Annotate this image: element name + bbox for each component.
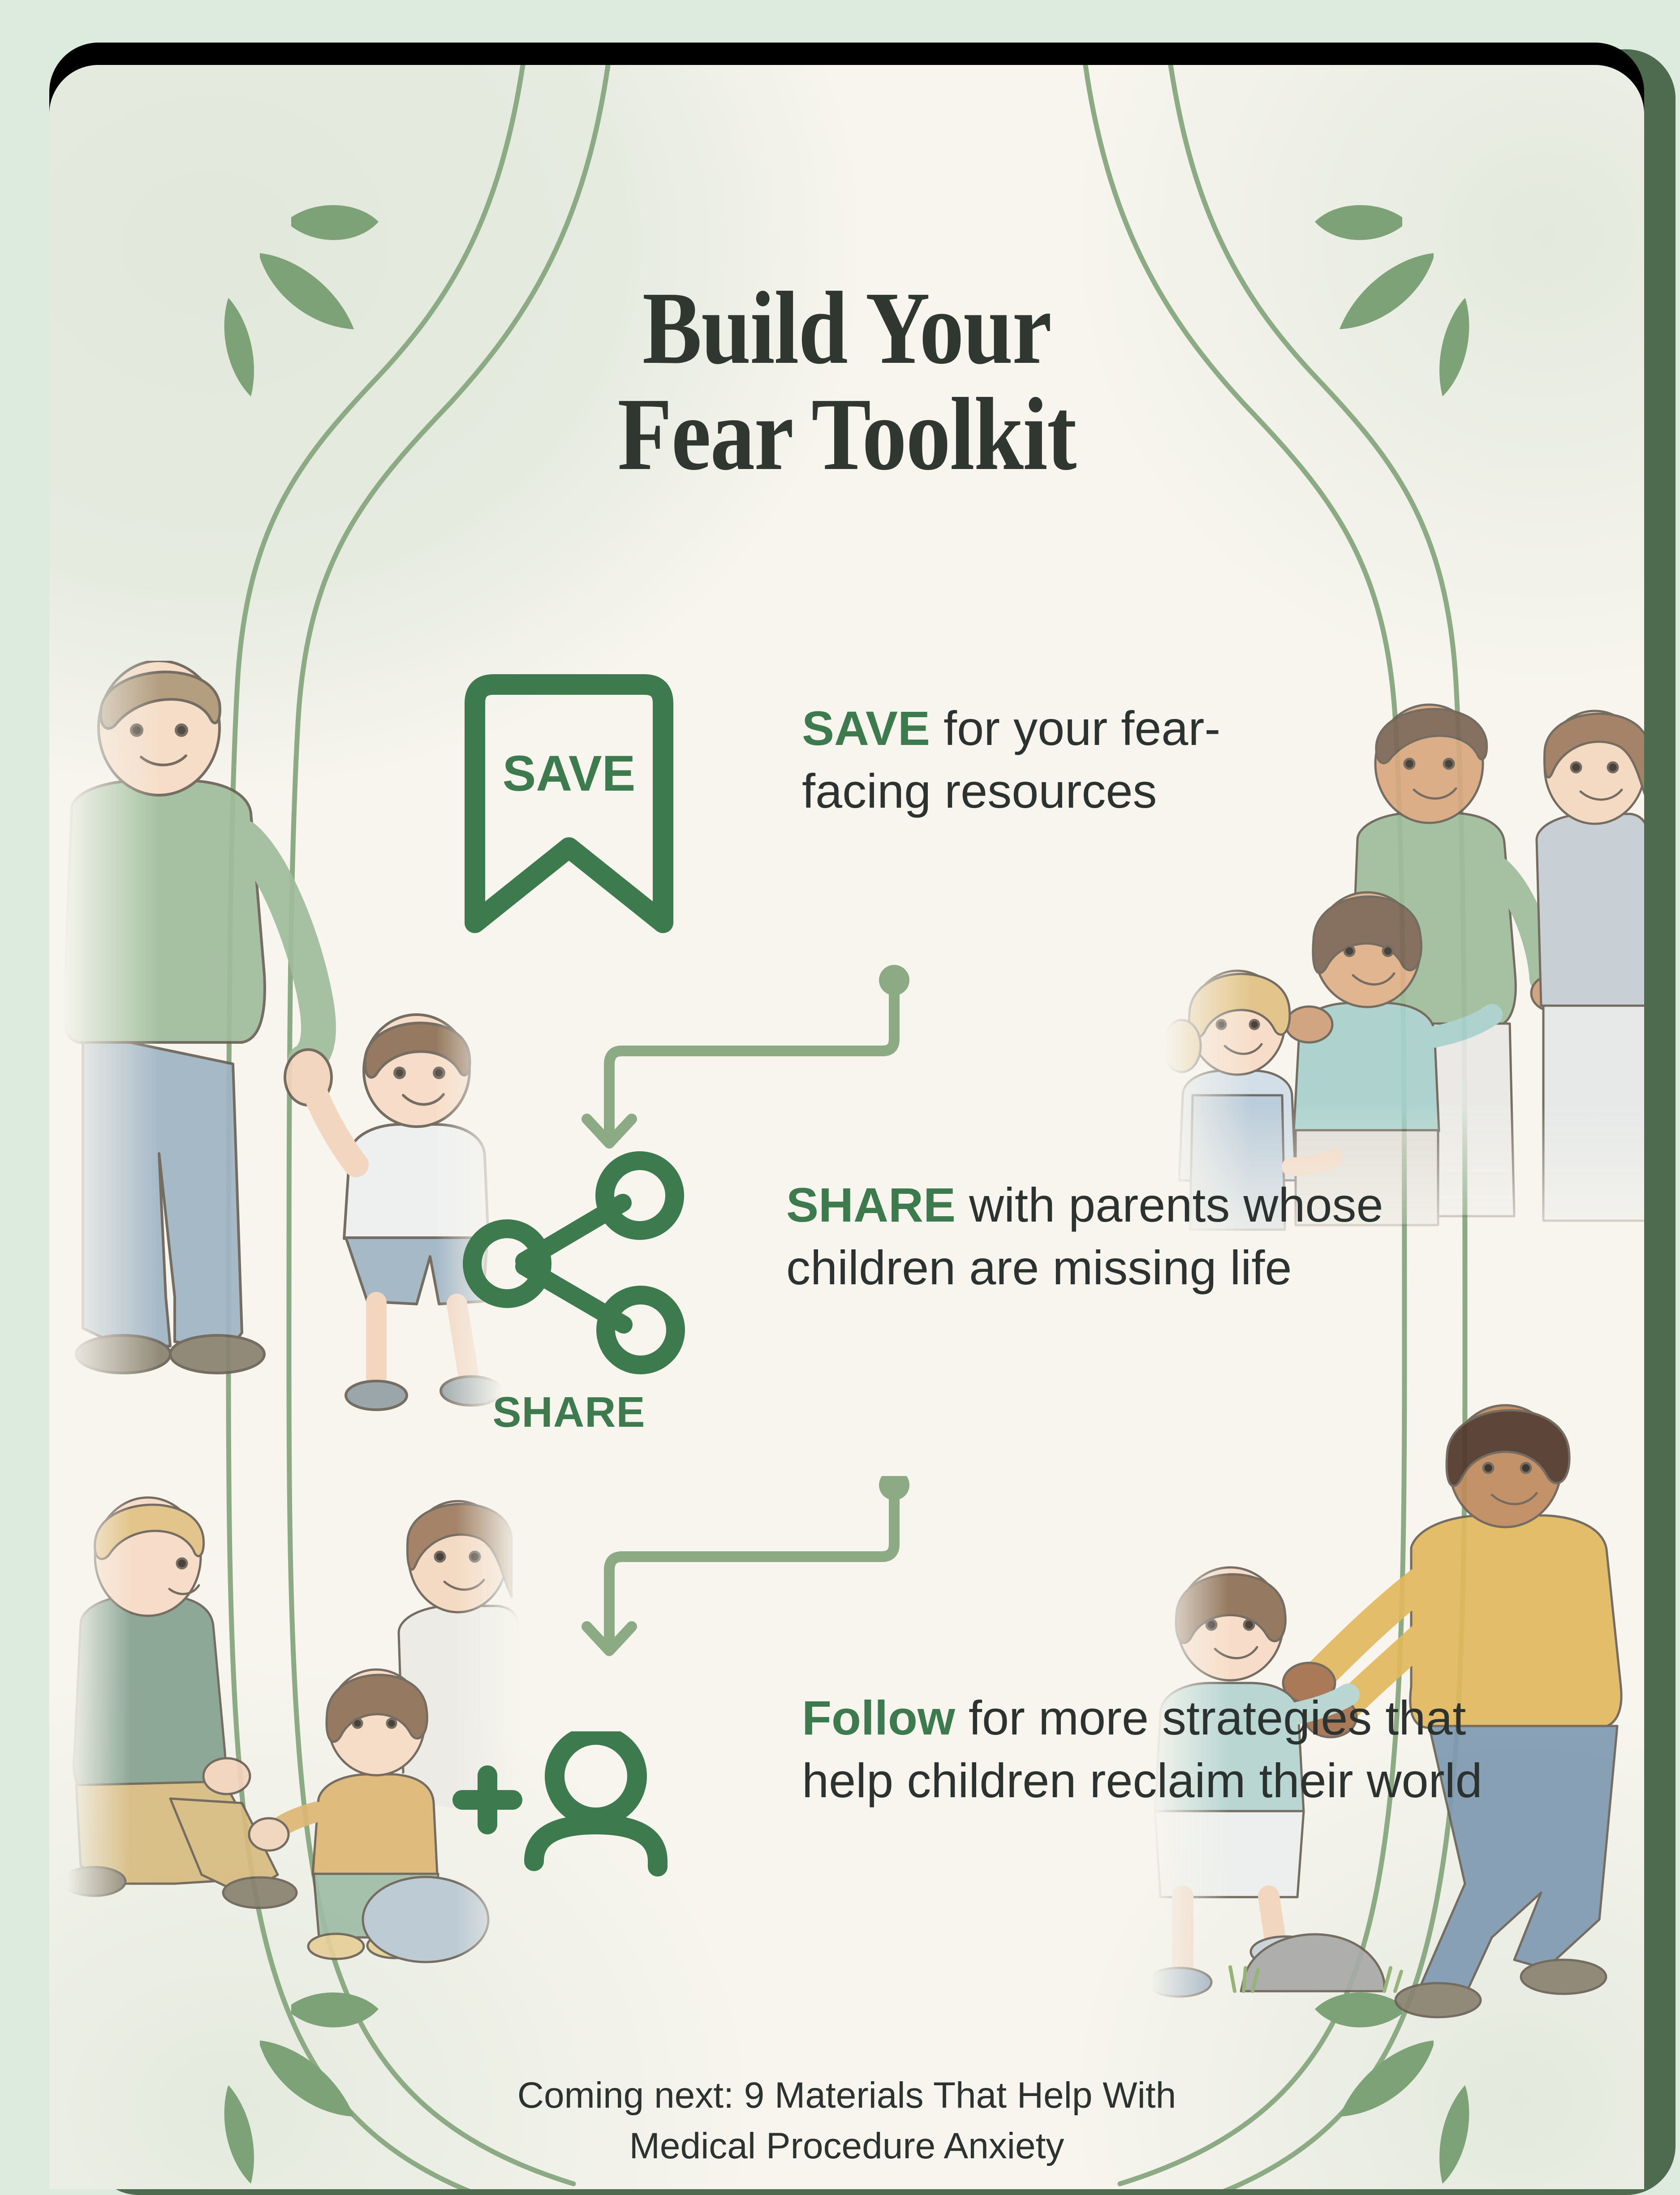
- step-share-text: SHARE with parents whose children are mi…: [786, 1174, 1485, 1300]
- step-save[interactable]: SAVE SAVE for your fear-facing resources: [444, 672, 1340, 952]
- page-title: Build Your Fear Toolkit: [161, 275, 1533, 487]
- step-follow-icon-wrap: [435, 1731, 708, 1922]
- share-icon-label: SHARE: [448, 1388, 690, 1437]
- bookmark-save-icon-label: SAVE: [503, 745, 636, 801]
- step-share-keyword: SHARE: [786, 1178, 956, 1232]
- step-share[interactable]: SHARE SHARE with parents whose children …: [448, 1149, 1485, 1437]
- footer-note: Coming next: 9 Materials That Help With …: [49, 2070, 1644, 2171]
- poster-card: Build Your Fear Toolkit: [49, 65, 1644, 2189]
- arrow-connector-share-to-follow: [533, 1476, 981, 1700]
- share-network-icon: [448, 1149, 690, 1382]
- step-save-keyword: SAVE: [802, 701, 930, 755]
- step-follow-keyword: Follow: [802, 1691, 955, 1745]
- step-share-icon-wrap: SHARE: [448, 1149, 690, 1437]
- step-save-text: SAVE for your fear-facing resources: [802, 697, 1340, 823]
- footer-line-2: Medical Procedure Anxiety: [49, 2121, 1644, 2171]
- title-line-1: Build Your: [642, 271, 1051, 386]
- bookmark-save-icon: SAVE: [444, 672, 694, 950]
- poster-stage: Build Your Fear Toolkit: [0, 0, 1680, 2189]
- step-follow-text: Follow for more strategies that help chi…: [802, 1687, 1519, 1812]
- step-follow[interactable]: Follow for more strategies that help chi…: [435, 1731, 1519, 1922]
- title-line-2: Fear Toolkit: [161, 382, 1533, 488]
- add-person-follow-icon: [435, 1731, 708, 1920]
- footer-line-1: Coming next: 9 Materials That Help With: [49, 2070, 1644, 2121]
- step-save-icon-wrap: SAVE: [444, 672, 694, 952]
